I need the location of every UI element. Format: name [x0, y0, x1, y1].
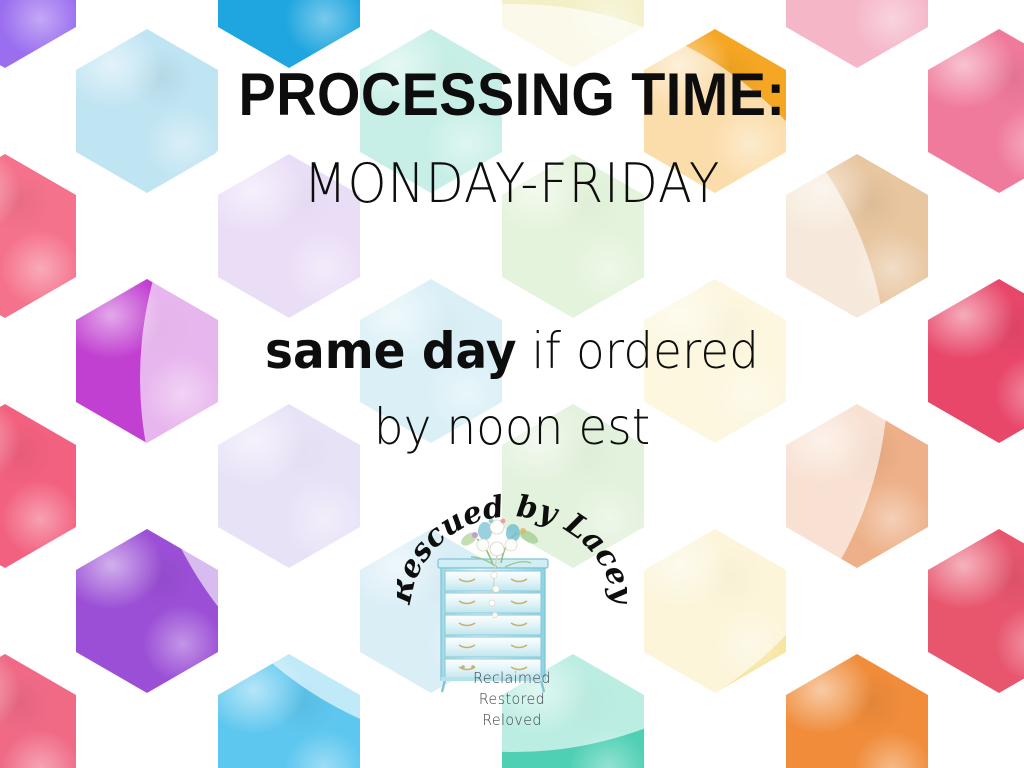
subtitle-days: MONDAY-FRIDAY [41, 152, 983, 215]
body-line-1-rest: if ordered [516, 322, 759, 380]
page-title: PROCESSING TIME: [36, 60, 988, 129]
tagline-line-3: Reloved [26, 710, 999, 731]
body-line-1: same day if ordered [31, 322, 994, 380]
body-emphasis: same day [265, 322, 516, 380]
logo-tagline: Reclaimed Restored Reloved [0, 668, 1024, 731]
body-line-2: by noon est [31, 398, 994, 456]
tagline-line-2: Restored [26, 689, 999, 710]
tagline-line-1: Reclaimed [26, 668, 999, 689]
poster-content: PROCESSING TIME: MONDAY-FRIDAY same day … [0, 0, 1024, 768]
poster-canvas: PROCESSING TIME: MONDAY-FRIDAY same day … [0, 0, 1024, 768]
